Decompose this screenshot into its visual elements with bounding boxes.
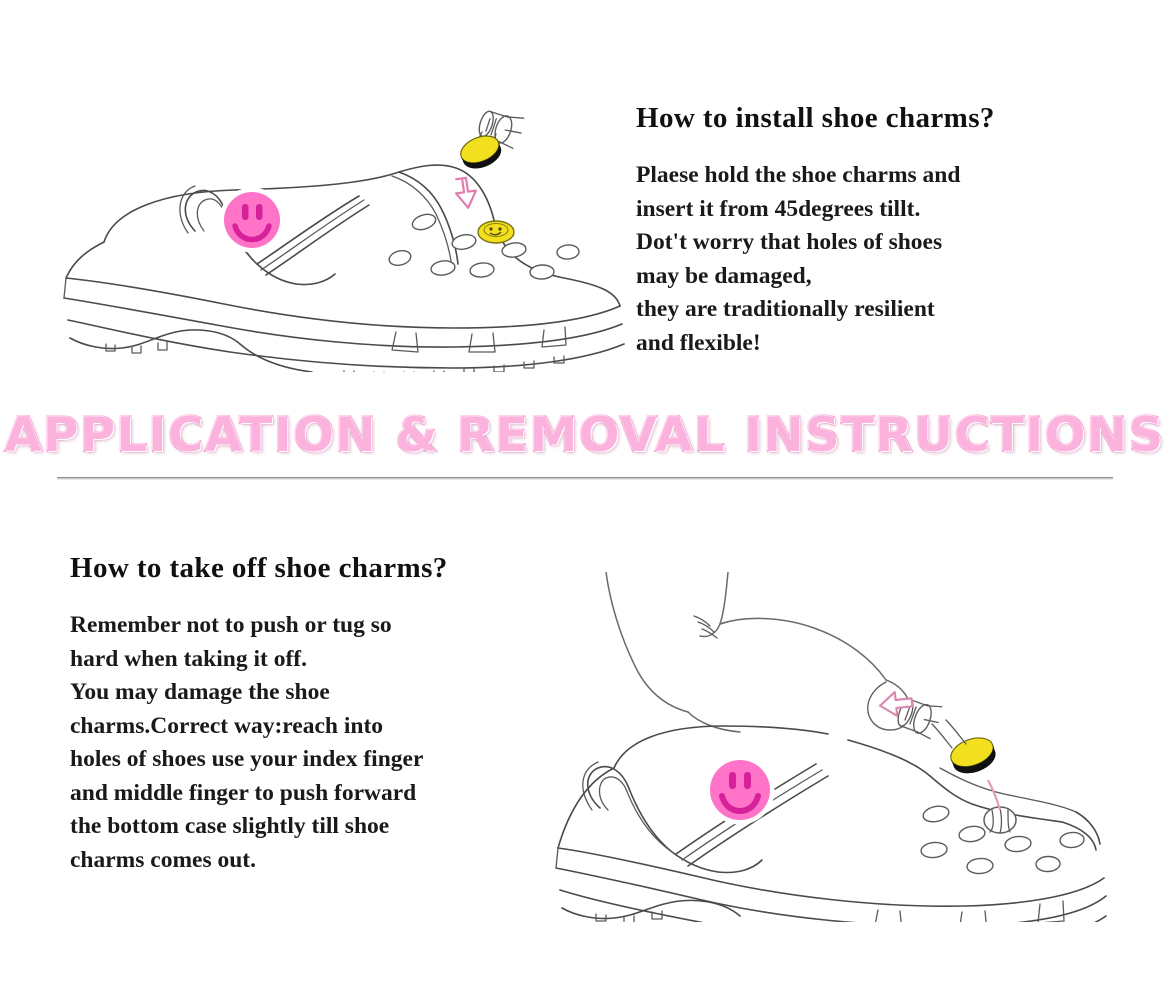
- removal-line-2: hard when taking it off.: [70, 643, 570, 677]
- inserted-yellow-charm: [478, 221, 514, 243]
- install-line-2: insert it from 45degrees tillt.: [636, 193, 1136, 227]
- install-heading: How to install shoe charms?: [636, 102, 1136, 135]
- charm-base-emerging: [984, 807, 1016, 833]
- install-line-1: Plaese hold the shoe charms and: [636, 159, 1136, 193]
- removal-line-6: and middle finger to push forward: [70, 777, 570, 811]
- removal-body: Remember not to push or tug so hard when…: [70, 609, 570, 877]
- install-line-6: and flexible!: [636, 327, 1136, 361]
- removal-line-4: charms.Correct way:reach into: [70, 710, 570, 744]
- removal-line-7: the bottom case slightly till shoe: [70, 810, 570, 844]
- section-divider: [57, 477, 1113, 480]
- clog-shoe-removal-drawing: [548, 572, 1108, 922]
- shoe-outline: [556, 726, 1106, 922]
- install-line-3: Dot't worry that holes of shoes: [636, 226, 1136, 260]
- install-body: Plaese hold the shoe charms and insert i…: [636, 159, 1136, 360]
- removal-line-5: holes of shoes use your index finger: [70, 743, 570, 777]
- insert-arrow-icon: [454, 177, 478, 209]
- pink-smiley-charm: [707, 757, 773, 823]
- install-text-block: How to install shoe charms? Plaese hold …: [636, 102, 1136, 360]
- clog-shoe-install-drawing: [44, 92, 634, 372]
- removal-line-8: charms comes out.: [70, 844, 570, 878]
- removal-illustration: [548, 572, 1108, 922]
- charm-insertion-diagram: [454, 106, 526, 209]
- removal-text-block: How to take off shoe charms? Remember no…: [70, 552, 570, 877]
- application-removal-banner: APPLICATION & REMOVAL INSTRUCTIONS: [0, 404, 1170, 466]
- removal-heading: How to take off shoe charms?: [70, 552, 570, 585]
- removal-line-1: Remember not to push or tug so: [70, 609, 570, 643]
- banner-title: APPLICATION & REMOVAL INSTRUCTIONS: [5, 412, 1165, 459]
- shoe-vent-holes: [388, 212, 580, 280]
- install-illustration: [44, 92, 634, 372]
- removal-line-3: You may damage the shoe: [70, 676, 570, 710]
- instruction-graphic-page: How to install shoe charms? Plaese hold …: [0, 0, 1170, 1004]
- hand-reaching-into-shoe: [606, 572, 910, 732]
- install-line-5: they are traditionally resilient: [636, 293, 1136, 327]
- pink-smiley-charm: [221, 189, 283, 251]
- install-line-4: may be damaged,: [636, 260, 1136, 294]
